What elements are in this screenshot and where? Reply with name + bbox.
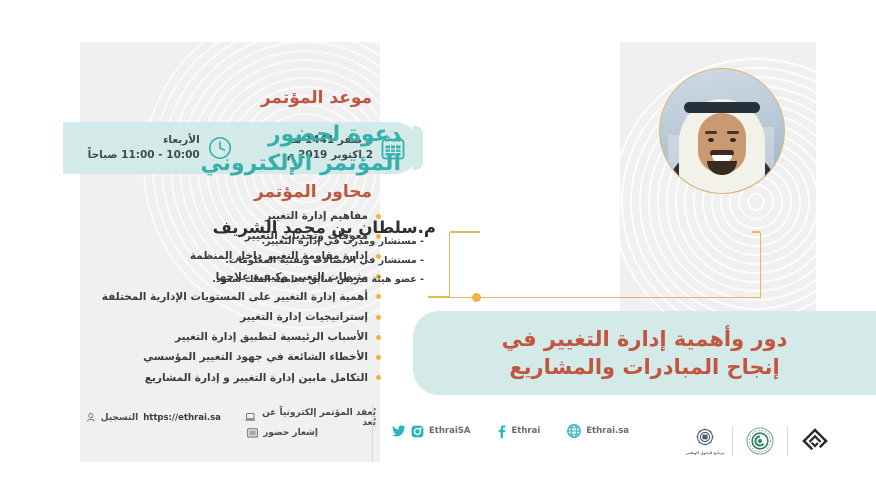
accent-tab xyxy=(413,126,423,170)
session-title-banner: دور وأهمية إدارة التغيير في إنجاح المباد… xyxy=(413,311,876,395)
laptop-icon xyxy=(245,412,256,423)
note-attendance-text: إشعار حضور xyxy=(263,428,318,438)
avatar-eye-left xyxy=(708,138,714,142)
facebook-icon[interactable] xyxy=(497,425,506,438)
social-handle: Ethrai.sa xyxy=(586,426,629,436)
globe-icon[interactable] xyxy=(567,424,581,438)
logo-national-transformation: برنامج التحول الوطني xyxy=(678,418,732,464)
instagram-icon[interactable] xyxy=(411,425,424,438)
logo-caption: برنامج التحول الوطني xyxy=(686,451,725,455)
list-item: التكامل مابين إدارة التغيير و إدارة المش… xyxy=(81,368,381,388)
bullet-icon xyxy=(376,335,381,340)
avatar-ring xyxy=(659,68,785,194)
bullet-icon xyxy=(376,315,381,320)
register-badge-icon xyxy=(86,412,96,423)
social-facebook[interactable]: Ethrai xyxy=(497,425,540,438)
footer-divider xyxy=(372,404,373,462)
topic-label: الأسباب الرئيسية لتطبيق إدارة التغيير xyxy=(175,331,368,343)
social-handle: Ethrai xyxy=(511,426,540,436)
poster-canvas: موعد المؤتمر محاور المؤتمر 3 صفر 1441 هـ… xyxy=(0,0,876,492)
topic-label: إستراتيجيات إدارة التغيير xyxy=(240,311,368,323)
bullet-icon xyxy=(376,294,381,299)
social-handle: EthraiSA xyxy=(429,426,470,436)
list-item: إستراتيجيات إدارة التغيير xyxy=(81,307,381,327)
partner-logos: برنامج التحول الوطني xyxy=(678,418,842,464)
certificate-icon xyxy=(247,428,258,438)
session-title-line-2: إنجاح المبادرات والمشاريع xyxy=(502,353,788,381)
speaker-bio-list: - مستشار ومدرب في إدارة التغيير. - مستشا… xyxy=(124,236,424,293)
social-twitter[interactable]: EthraiSA xyxy=(392,425,470,438)
bullet-icon xyxy=(376,375,381,380)
frame-dot-icon xyxy=(472,293,481,302)
speaker-avatar xyxy=(659,68,785,194)
session-title-line-1: دور وأهمية إدارة التغيير في xyxy=(502,325,788,353)
list-item: الأسباب الرئيسية لتطبيق إدارة التغيير xyxy=(81,327,381,347)
avatar-igal xyxy=(684,102,760,113)
avatar-eye-right xyxy=(730,138,736,142)
date-section-header: موعد المؤتمر xyxy=(261,88,372,108)
registration-label: التسجيل xyxy=(101,413,139,423)
session-title-text: دور وأهمية إدارة التغيير في إنجاح المباد… xyxy=(502,325,788,382)
twitter-icon[interactable] xyxy=(392,425,406,438)
page-title: دعوة لحضور المؤتمر الإلكتروني xyxy=(161,120,401,178)
note-online-text: يُعقد المؤتمر إلكترونياً عن بُعد xyxy=(261,408,376,428)
headline-line-1: دعوة لحضور xyxy=(161,120,401,149)
headline-line-2: المؤتمر الإلكتروني xyxy=(161,149,401,178)
speaker-name: م.سلطان بن محمد الشريف xyxy=(106,218,436,237)
logo-kufic-mark xyxy=(788,418,842,464)
social-website[interactable]: Ethrai.sa xyxy=(567,424,629,438)
topic-label: الأخطاء الشائعة في جهود التغيير المؤسسي xyxy=(143,351,368,363)
registration-url[interactable]: https://ethrai.sa xyxy=(143,413,221,423)
bio-line: - عضو هيئة تدريس سابق بجامعة الملك سعود. xyxy=(124,274,424,293)
frame-tail xyxy=(428,296,450,298)
online-note-row: يُعقد المؤتمر إلكترونياً عن بُعد https:/… xyxy=(86,410,376,425)
footer-notes: يُعقد المؤتمر إلكترونياً عن بُعد https:/… xyxy=(86,410,376,440)
speaker-bio-frame xyxy=(449,232,761,298)
bullet-icon xyxy=(376,355,381,360)
national-transformation-icon xyxy=(694,427,716,449)
logo-circular-emblem xyxy=(733,418,787,464)
avatar-brow-left xyxy=(705,131,717,134)
avatar-face xyxy=(698,113,746,173)
avatar-brow-right xyxy=(727,131,739,134)
bio-line: - مستشار ومدرب في إدارة التغيير. xyxy=(124,236,424,255)
social-links: EthraiSA Ethrai Ethrai.sa xyxy=(392,424,629,438)
kufic-mark-icon xyxy=(802,428,828,454)
list-item: الأخطاء الشائعة في جهود التغيير المؤسسي xyxy=(81,347,381,367)
topic-label: التكامل مابين إدارة التغيير و إدارة المش… xyxy=(145,372,368,384)
topics-section-header: محاور المؤتمر xyxy=(254,182,372,202)
circular-emblem-icon xyxy=(745,426,775,456)
bio-line: - مستشار في الاتصالات وتقنية المعلومات. xyxy=(124,255,424,274)
